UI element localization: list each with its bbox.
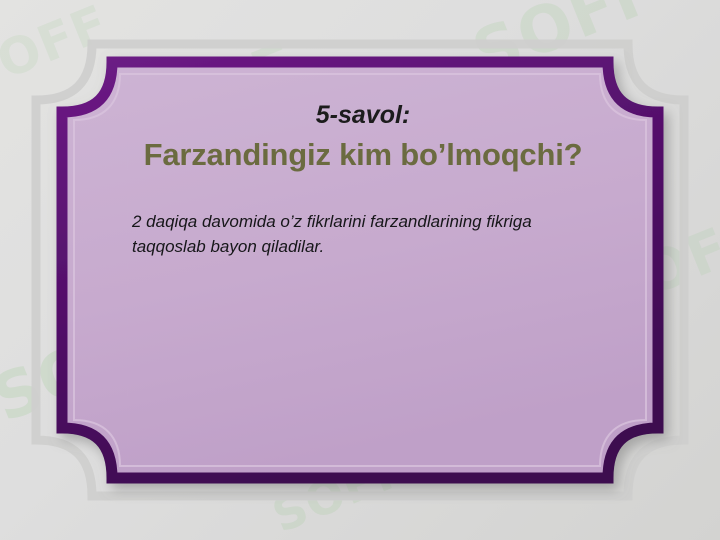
question-title: Farzandingiz kim bo’lmoqchi? [108,136,618,175]
question-number: 5-savol: [108,100,618,130]
slide-content: 5-savol: Farzandingiz kim bo’lmoqchi? 2 … [108,100,618,260]
decorative-frame [22,16,698,524]
slide-canvas: SOFF SOFF SOFF SOFF SOFF SOFF SOFF [0,0,720,540]
question-instruction: 2 daqiqa davomida o’z fikrlarini farzand… [132,209,602,260]
